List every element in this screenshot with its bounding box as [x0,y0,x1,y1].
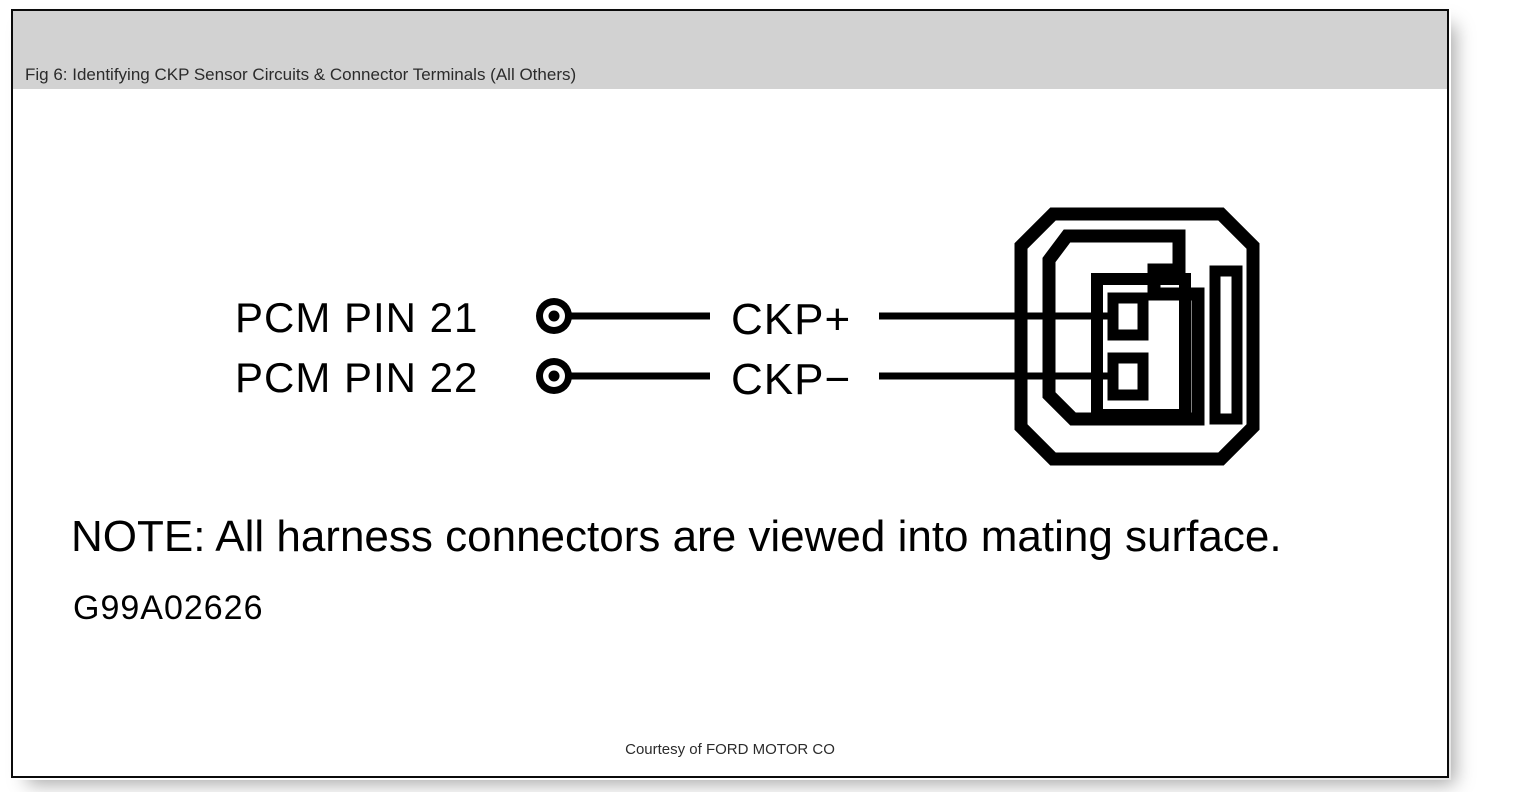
courtesy-credit: Courtesy of FORD MOTOR CO [13,741,1447,758]
drawing-id: G99A02626 [73,589,264,627]
diagram-canvas: PCM PIN 21 CKP+ PCM PIN 22 CKP− [13,89,1447,778]
terminal-cavity-upper [1113,298,1143,335]
pcm-pin-22-label: PCM PIN 22 [235,354,478,401]
ring-terminal-icon [536,358,572,394]
ckp-plus-label: CKP+ [731,295,851,344]
figure-caption-band: Fig 6: Identifying CKP Sensor Circuits &… [13,11,1447,89]
pcm-pin-22-row: PCM PIN 22 CKP− [235,354,851,404]
ckp-minus-label: CKP− [731,355,851,404]
connector-locking-tab-slot [1215,271,1237,419]
terminal-cavity-lower [1113,358,1143,395]
diagram-note: NOTE: All harness connectors are viewed … [71,512,1282,561]
pcm-pin-21-label: PCM PIN 21 [235,294,478,341]
ckp-harness-connector [1021,214,1253,459]
ring-terminal-icon [536,298,572,334]
figure-panel: Fig 6: Identifying CKP Sensor Circuits &… [11,9,1449,778]
ckp-sensor-schematic: PCM PIN 21 CKP+ PCM PIN 22 CKP− [13,89,1447,778]
figure-caption: Fig 6: Identifying CKP Sensor Circuits &… [25,65,576,85]
pcm-pin-21-row: PCM PIN 21 CKP+ [235,294,851,344]
